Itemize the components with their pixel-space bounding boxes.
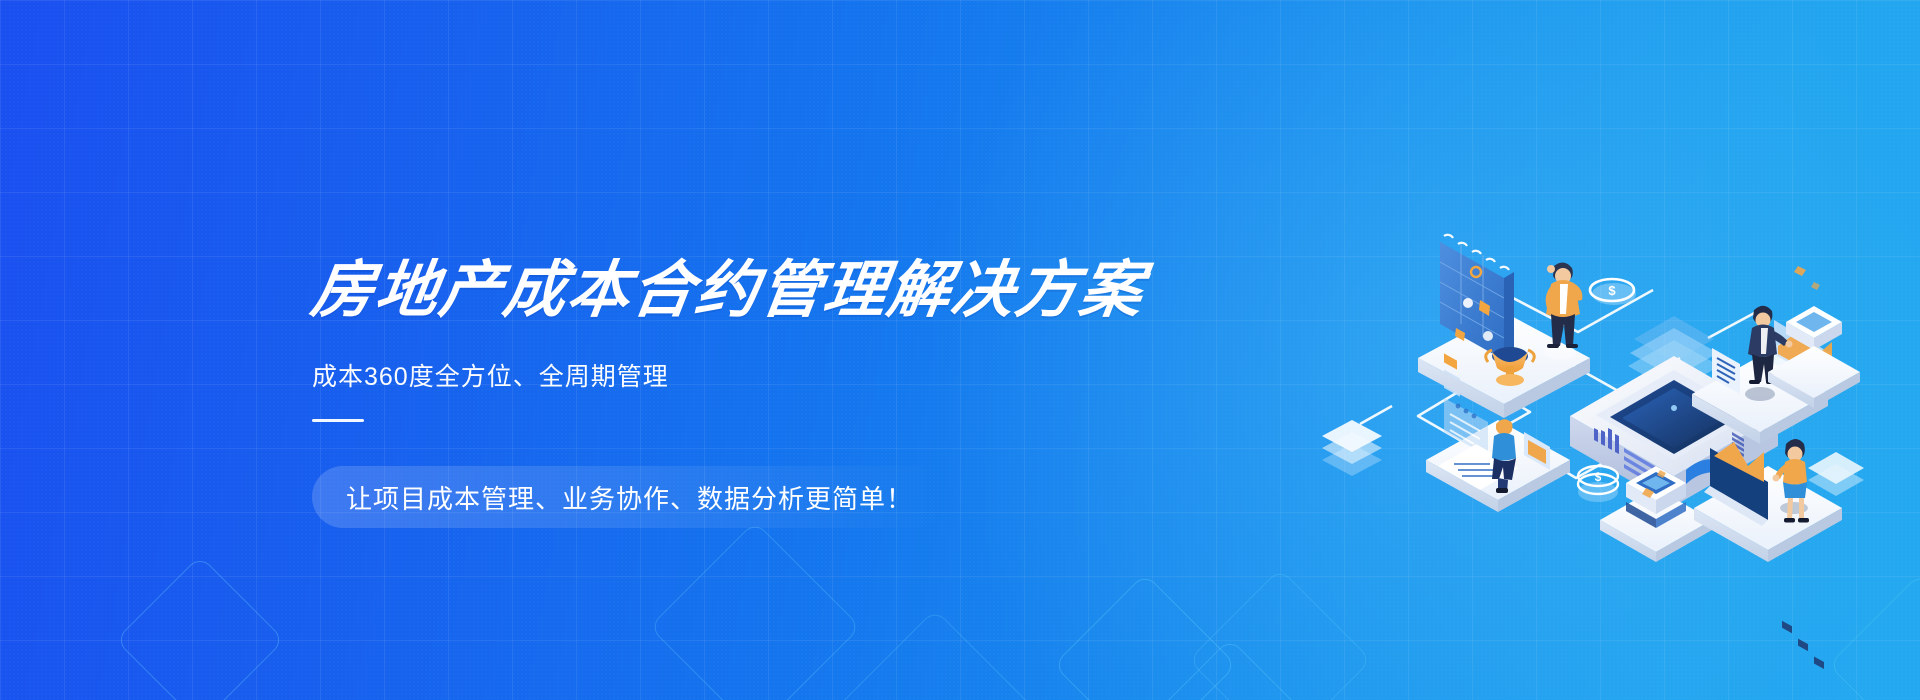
- divider-rule: [312, 419, 364, 422]
- coin-stack-icon: $: [1590, 279, 1636, 305]
- stacked-cards: [1322, 420, 1382, 476]
- decorative-diamond: [115, 555, 285, 700]
- dashboard-monitor: [1704, 442, 1768, 700]
- decorative-diamond: [1828, 573, 1920, 700]
- coin-stack-icon: $: [1578, 466, 1618, 502]
- hero-tagline-pill: 让项目成本管理、业务协作、数据分析更简单！: [312, 466, 947, 528]
- decorative-diamond: [1053, 573, 1237, 700]
- svg-text:$: $: [1608, 283, 1616, 298]
- page-title: 房地产成本合约管理解决方案: [307, 258, 1216, 323]
- hero-illustration: $: [1308, 170, 1868, 550]
- decorative-diamond: [649, 521, 861, 700]
- hero-subtitle: 成本360度全方位、全周期管理: [312, 357, 1212, 393]
- decorative-diamond: [1138, 638, 1322, 700]
- decorative-diamond: [1188, 568, 1372, 700]
- hero-copy-block: 房地产成本合约管理解决方案 成本360度全方位、全周期管理 让项目成本管理、业务…: [312, 258, 1212, 528]
- decorative-diamond: [829, 609, 1041, 700]
- stacked-cards: [1808, 452, 1864, 496]
- svg-text:$: $: [1595, 470, 1602, 484]
- hero-banner: 房地产成本合约管理解决方案 成本360度全方位、全周期管理 让项目成本管理、业务…: [0, 0, 1920, 700]
